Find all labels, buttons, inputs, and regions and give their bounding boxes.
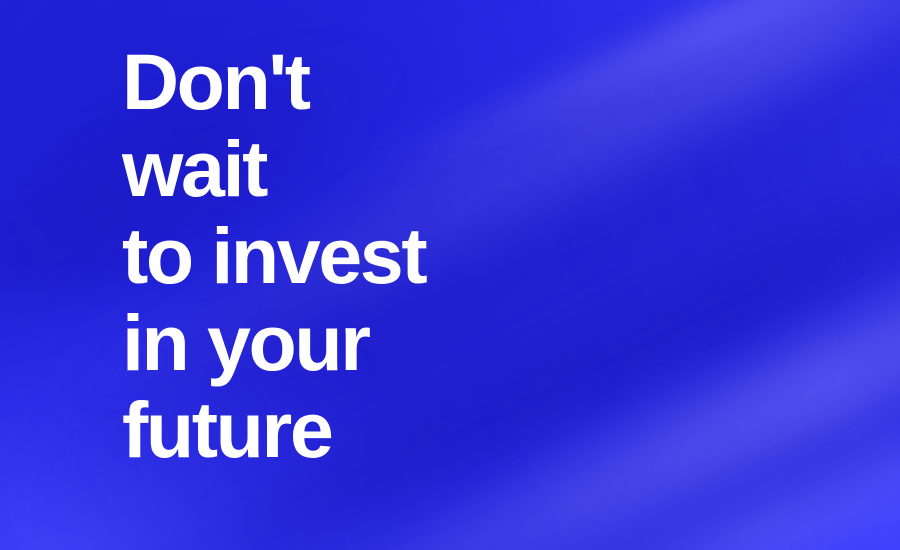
headline-line-4: in your [122,299,642,386]
headline-block: Don't wait to invest in your future [122,38,642,473]
headline-line-1: Don't [122,38,642,125]
headline-line-2: wait [122,125,642,212]
headline-line-3: to invest [122,212,642,299]
headline-line-5: future [122,386,642,473]
promo-banner: Don't wait to invest in your future [0,0,900,550]
